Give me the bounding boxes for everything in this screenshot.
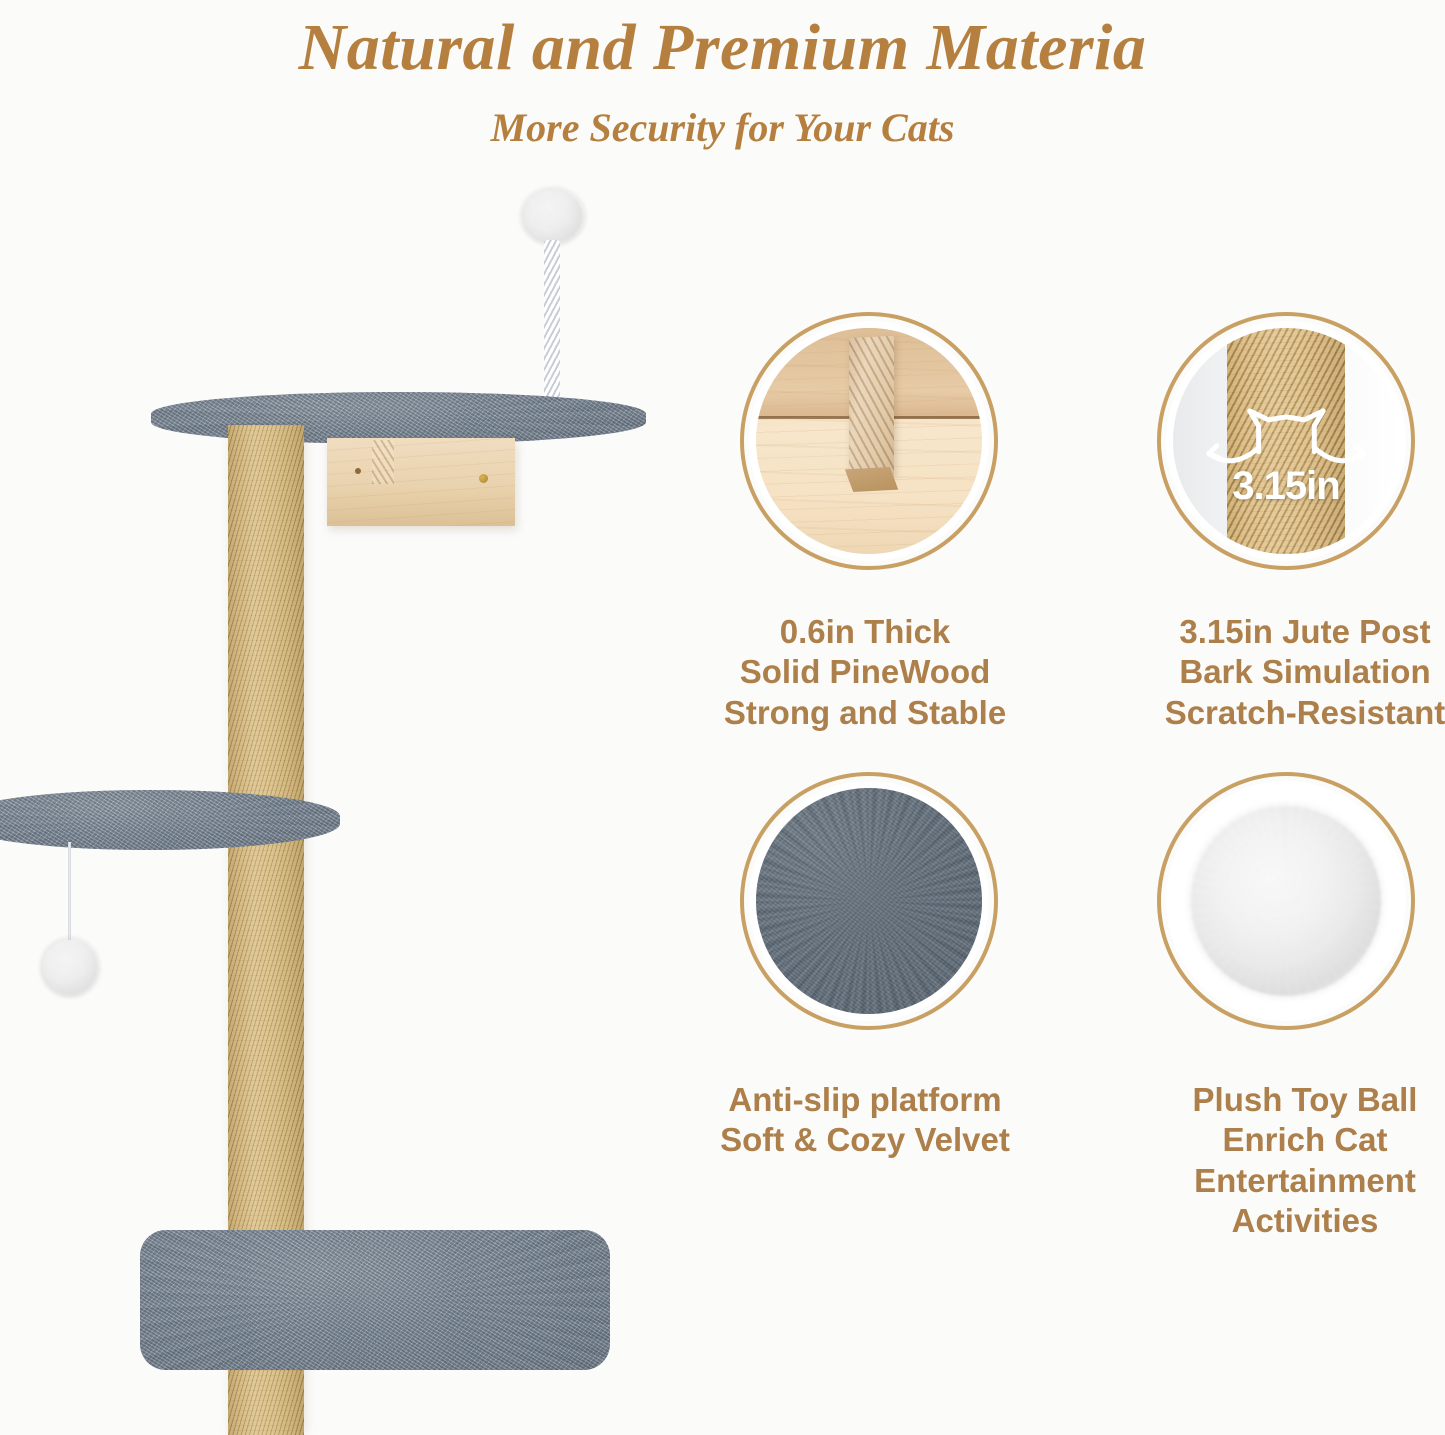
cat-tree-tower-photo: [0, 170, 700, 1334]
velvet-fuzz-texture: [0, 790, 340, 850]
bracket-notch: [372, 440, 394, 484]
wood-grain-texture: [327, 438, 515, 526]
velvet-fuzz-texture: [151, 392, 646, 444]
velvet-surface: [756, 788, 982, 1014]
pom-fluff-texture: [519, 186, 586, 246]
toy-spring-coil: [544, 240, 560, 400]
infographic-canvas: Natural and Premium Materia More Securit…: [0, 0, 1445, 1334]
feature-plush-toy-ball: [1157, 772, 1415, 1030]
pine-wood-surface: [756, 328, 982, 554]
feature-caption-solid-pinewood: 0.6in Thick Solid PineWood Strong and St…: [700, 612, 1030, 733]
jute-photo-background: 3.15in: [1173, 328, 1399, 554]
base-velvet-platform: [140, 1230, 610, 1370]
feature-solid-pinewood: [740, 312, 998, 570]
pom-fluff-texture: [39, 936, 102, 999]
feature-caption-velvet-platform: Anti-slip platform Soft & Cozy Velvet: [700, 1080, 1030, 1161]
feature-velvet-platform: [740, 772, 998, 1030]
grey-velvet-texture-photo: [756, 788, 982, 1014]
top-velvet-platform: [151, 392, 646, 444]
page-title: Natural and Premium Materia: [0, 10, 1445, 86]
pine-wood-edge-photo: [756, 328, 982, 554]
velvet-fuzz-texture: [756, 788, 982, 1014]
hanging-pom-pom-ball: [43, 940, 97, 994]
pine-wood-edge-tip: [845, 467, 898, 492]
feature-caption-jute-post: 3.15in Jute Post Bark Simulation Scratch…: [1140, 612, 1445, 733]
bracket-screw: [355, 468, 361, 474]
bracket-screw: [479, 474, 488, 483]
wood-edge-grain: [849, 336, 894, 478]
plush-ball-background: [1173, 788, 1399, 1014]
middle-velvet-platform: [0, 790, 340, 850]
feature-caption-plush-toy-ball: Plush Toy Ball Enrich Cat Entertainment …: [1140, 1080, 1445, 1241]
plush-ball-fluff-texture: [1187, 802, 1386, 1001]
pine-wood-mounting-bracket: [327, 438, 515, 526]
velvet-fuzz-texture: [140, 1230, 610, 1370]
page-subtitle: More Security for Your Cats: [0, 104, 1445, 151]
spring-pom-pom-ball: [524, 190, 582, 242]
white-plush-ball-photo: [1173, 788, 1399, 1014]
feature-jute-post: 3.15in: [1157, 312, 1415, 570]
pine-wood-thickness-edge: [849, 336, 894, 478]
jute-diameter-label: 3.15in: [1173, 464, 1399, 509]
jute-scratching-post-photo: 3.15in: [1173, 328, 1399, 554]
